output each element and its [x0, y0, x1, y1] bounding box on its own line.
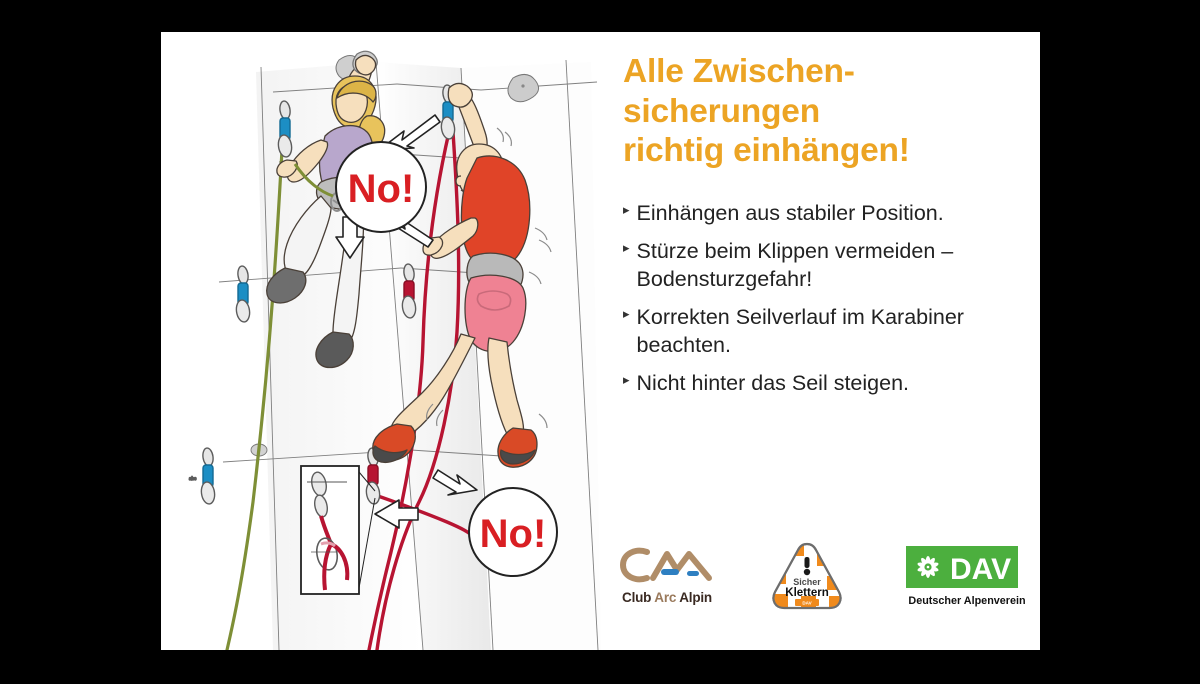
no-bubble-upper: No! [336, 142, 426, 232]
list-item-label: Einhängen aus stabiler Position. [637, 200, 944, 228]
quickdraw-left-top [277, 100, 293, 157]
badge-line1: Sicher [793, 577, 821, 587]
caa-caption-pre: Club [622, 590, 654, 605]
list-item: ▸ Einhängen aus stabiler Position. [623, 200, 1038, 228]
svg-text:abc: abc [189, 476, 197, 481]
badge-tag-label: DAV [802, 601, 812, 606]
list-item-label: Stürze beim Klippen vermeiden – Bodenstu… [637, 238, 1038, 294]
list-item: ▸ Nicht hinter das Seil steigen. [623, 370, 1038, 398]
list-item-label: Korrekten Seilverlauf im Karabiner beach… [637, 304, 1038, 360]
no-label: No! [348, 167, 415, 211]
title-line-3: richtig einhängen! [623, 131, 1033, 171]
caa-caption-accent: Arc [654, 590, 679, 605]
dav-caption: Deutscher Alpenverein [906, 595, 1028, 607]
caa-caption-post: Alpin [679, 590, 712, 605]
list-item-label: Nicht hinter das Seil steigen. [637, 370, 909, 398]
bullet-triangle-icon: ▸ [623, 305, 630, 323]
club-arc-alpin-logo[interactable]: Club Arc Alpin [617, 544, 717, 606]
list-item: ▸ Korrekten Seilverlauf im Karabiner bea… [623, 304, 1038, 360]
quickdraw-left-mid [235, 265, 251, 322]
bullet-list: ▸ Einhängen aus stabiler Position. ▸ Stü… [623, 200, 1038, 408]
bullet-triangle-icon: ▸ [623, 201, 630, 219]
title-line-2: sicherungen [623, 92, 1033, 132]
logo-row: Club Arc Alpin [161, 532, 1040, 632]
caa-mark-icon [617, 544, 717, 584]
dav-logo[interactable]: DAV Deutscher Alpenverein [906, 546, 1028, 614]
title-line-1: Alle Zwischen- [623, 52, 1033, 92]
bullet-triangle-icon: ▸ [623, 239, 630, 257]
caa-caption: Club Arc Alpin [617, 590, 717, 605]
bullet-triangle-icon: ▸ [623, 371, 630, 389]
dav-abbr: DAV [950, 553, 1011, 586]
sicher-klettern-badge[interactable]: Sicher Klettern DAV [769, 540, 849, 625]
badge-line2: Klettern [785, 587, 828, 599]
exclamation-icon [804, 557, 810, 575]
list-item: ▸ Stürze beim Klippen vermeiden – Bodens… [623, 238, 1038, 294]
page-title: Alle Zwischen- sicherungen richtig einhä… [623, 52, 1033, 171]
poster-card: abc [161, 32, 1040, 650]
